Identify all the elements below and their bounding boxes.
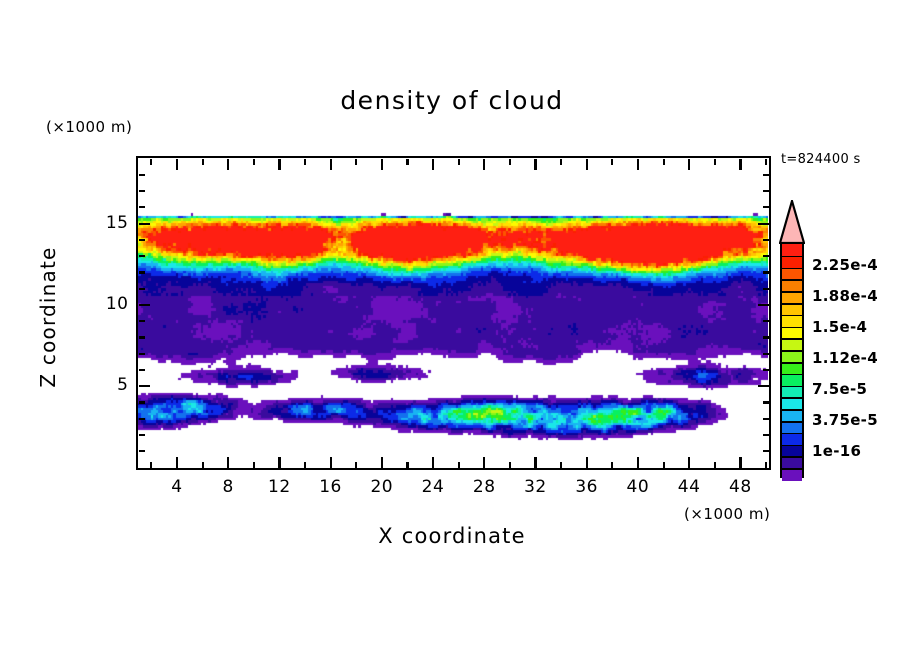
colorbar-band-separator: [782, 362, 802, 364]
x-major-tick: [637, 457, 639, 468]
colorbar-band: [782, 421, 802, 433]
x-tick-label: 20: [362, 477, 402, 497]
colorbar-band-separator: [782, 433, 802, 435]
x-minor-tick: [150, 462, 152, 468]
y-minor-tick: [139, 288, 145, 290]
x-tick-label: 8: [208, 477, 248, 497]
y-minor-tick-right: [763, 190, 769, 192]
x-major-tick-top: [688, 159, 690, 170]
colorbar-band-separator: [782, 350, 802, 352]
x-minor-tick-top: [253, 159, 255, 165]
colorbar-band-separator: [782, 445, 802, 447]
x-major-tick-top: [330, 159, 332, 170]
colorbar-band: [782, 386, 802, 398]
colorbar-band-separator: [782, 456, 802, 458]
y-minor-tick-right: [763, 255, 769, 257]
y-minor-tick: [139, 174, 145, 176]
x-major-tick-top: [176, 159, 178, 170]
x-minor-tick-top: [304, 159, 306, 165]
x-minor-tick-top: [458, 159, 460, 165]
colorbar-tick-label: 3.75e-5: [812, 411, 878, 429]
x-major-tick: [330, 457, 332, 468]
y-tick-label: 10: [89, 294, 129, 314]
y-minor-tick: [139, 369, 145, 371]
colorbar-band-separator: [782, 315, 802, 317]
timestamp-annotation: t=824400 s: [781, 152, 861, 167]
x-tick-label: 40: [618, 477, 658, 497]
colorbar-band: [782, 456, 802, 468]
colorbar-tick-label: 2.25e-4: [812, 256, 878, 274]
colorbar-band: [782, 256, 802, 268]
y-minor-tick-right: [763, 206, 769, 208]
colorbar-band: [782, 362, 802, 374]
x-tick-label: 36: [567, 477, 607, 497]
x-minor-tick-top: [611, 159, 613, 165]
z-axis-unit-label: (×1000 m): [46, 118, 132, 136]
x-minor-tick-top: [202, 159, 204, 165]
y-minor-tick: [139, 336, 145, 338]
x-minor-tick: [714, 462, 716, 468]
y-minor-tick-right: [763, 450, 769, 452]
colorbar-band: [782, 338, 802, 350]
x-major-tick-top: [586, 159, 588, 170]
y-minor-tick-right: [763, 401, 769, 403]
x-tick-label: 12: [259, 477, 299, 497]
colorbar-band-separator: [782, 421, 802, 423]
x-major-tick: [432, 457, 434, 468]
y-minor-tick: [139, 206, 145, 208]
y-minor-tick: [139, 450, 145, 452]
y-minor-tick: [139, 401, 145, 403]
colorbar-tick-label: 1.12e-4: [812, 349, 878, 367]
chart-title: density of cloud: [0, 86, 904, 115]
x-major-tick-top: [534, 159, 536, 170]
x-tick-label: 4: [157, 477, 197, 497]
x-major-tick: [483, 457, 485, 468]
colorbar-band: [782, 327, 802, 339]
density-field-heatmap: [138, 158, 768, 467]
x-major-tick-top: [227, 159, 229, 170]
y-tick-label: 5: [89, 375, 129, 395]
colorbar-band: [782, 303, 802, 315]
colorbar-band: [782, 374, 802, 386]
colorbar-band-separator: [782, 279, 802, 281]
x-major-tick: [534, 457, 536, 468]
x-major-tick-top: [483, 159, 485, 170]
colorbar-band: [782, 279, 802, 291]
x-minor-tick: [611, 462, 613, 468]
y-minor-tick: [139, 255, 145, 257]
x-minor-tick: [765, 462, 767, 468]
y-tick-label: 15: [89, 213, 129, 233]
x-major-tick-top: [278, 159, 280, 170]
colorbar-band: [782, 409, 802, 421]
colorbar-band-separator: [782, 303, 802, 305]
colorbar-band-separator: [782, 374, 802, 376]
x-minor-tick: [253, 462, 255, 468]
x-major-tick-top: [637, 159, 639, 170]
colorbar-band-separator: [782, 468, 802, 470]
y-minor-tick-right: [763, 353, 769, 355]
y-major-tick: [139, 223, 150, 225]
x-minor-tick-top: [560, 159, 562, 165]
y-minor-tick: [139, 239, 145, 241]
colorbar-band: [782, 433, 802, 445]
colorbar-band: [782, 468, 802, 480]
x-minor-tick: [560, 462, 562, 468]
x-minor-tick-top: [663, 159, 665, 165]
colorbar-tick-label: 1.5e-4: [812, 318, 867, 336]
y-minor-tick: [139, 271, 145, 273]
colorbar-tick-label: 1.88e-4: [812, 287, 878, 305]
y-minor-tick: [139, 418, 145, 420]
x-major-tick: [739, 457, 741, 468]
figure-root: density of cloud (×1000 m) (×1000 m) X c…: [0, 0, 904, 654]
colorbar: [780, 242, 804, 478]
x-minor-tick-top: [509, 159, 511, 165]
y-minor-tick-right: [763, 336, 769, 338]
colorbar-band-separator: [782, 397, 802, 399]
colorbar-band-separator: [782, 268, 802, 270]
colorbar-extend-arrow: [779, 200, 805, 244]
x-minor-tick: [663, 462, 665, 468]
x-major-tick-top: [432, 159, 434, 170]
x-minor-tick: [202, 462, 204, 468]
x-major-tick: [278, 457, 280, 468]
y-minor-tick-right: [763, 434, 769, 436]
colorbar-band-separator: [782, 327, 802, 329]
y-minor-tick-right: [763, 369, 769, 371]
colorbar-band-separator: [782, 338, 802, 340]
x-minor-tick: [458, 462, 460, 468]
colorbar-band-separator: [782, 386, 802, 388]
colorbar-band: [782, 244, 802, 256]
x-minor-tick-top: [150, 159, 152, 165]
x-minor-tick-top: [714, 159, 716, 165]
plot-area: [136, 156, 771, 470]
y-minor-tick-right: [763, 239, 769, 241]
colorbar-band: [782, 268, 802, 280]
y-major-tick: [139, 304, 150, 306]
x-tick-label: 48: [720, 477, 760, 497]
x-major-tick: [381, 457, 383, 468]
x-major-tick: [688, 457, 690, 468]
x-minor-tick-top: [765, 159, 767, 165]
y-minor-tick: [139, 320, 145, 322]
x-minor-tick: [406, 462, 408, 468]
y-major-tick-right: [758, 304, 769, 306]
colorbar-band: [782, 350, 802, 362]
colorbar-band-separator: [782, 409, 802, 411]
x-minor-tick: [304, 462, 306, 468]
y-minor-tick-right: [763, 288, 769, 290]
x-minor-tick: [509, 462, 511, 468]
y-minor-tick: [139, 190, 145, 192]
colorbar-band: [782, 397, 802, 409]
y-minor-tick-right: [763, 320, 769, 322]
x-tick-label: 24: [413, 477, 453, 497]
x-tick-label: 44: [669, 477, 709, 497]
x-major-tick: [586, 457, 588, 468]
y-minor-tick-right: [763, 271, 769, 273]
x-axis-unit-label: (×1000 m): [684, 505, 770, 523]
x-tick-label: 28: [464, 477, 504, 497]
x-major-tick-top: [739, 159, 741, 170]
x-major-tick: [227, 457, 229, 468]
y-minor-tick-right: [763, 418, 769, 420]
colorbar-band-separator: [782, 291, 802, 293]
colorbar-band: [782, 315, 802, 327]
y-major-tick: [139, 385, 150, 387]
colorbar-band-separator: [782, 256, 802, 258]
colorbar-tick-label: 7.5e-5: [812, 380, 867, 398]
x-minor-tick-top: [355, 159, 357, 165]
colorbar-tick-label: 1e-16: [812, 442, 861, 460]
y-minor-tick: [139, 353, 145, 355]
y-major-tick-right: [758, 385, 769, 387]
x-minor-tick-top: [406, 159, 408, 165]
y-minor-tick: [139, 434, 145, 436]
y-major-tick-right: [758, 223, 769, 225]
x-major-tick-top: [381, 159, 383, 170]
x-minor-tick: [355, 462, 357, 468]
y-axis-label: Z coordinate: [36, 227, 60, 407]
x-major-tick: [176, 457, 178, 468]
colorbar-band: [782, 445, 802, 457]
x-axis-label: X coordinate: [0, 524, 904, 548]
colorbar-band: [782, 291, 802, 303]
x-tick-label: 32: [515, 477, 555, 497]
y-minor-tick-right: [763, 174, 769, 176]
x-tick-label: 16: [311, 477, 351, 497]
